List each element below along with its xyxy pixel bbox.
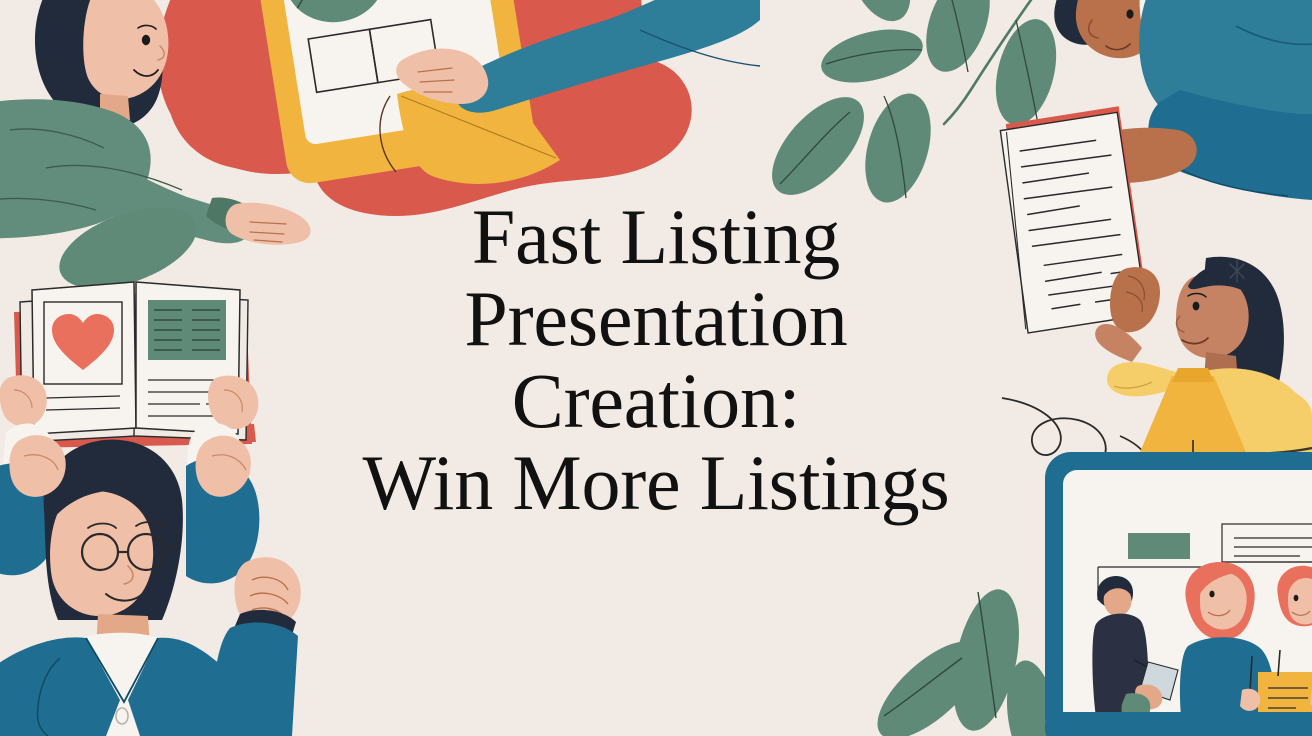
bottom-right-leaves [862, 583, 1063, 736]
presentation-slide: Fast Listing Presentation Creation: Win … [0, 0, 1312, 736]
top-center-tablet-illustration [158, 0, 760, 216]
top-right-leaf-branch [756, 0, 1067, 211]
title-line-2: Presentation [362, 278, 949, 360]
slide-title-block: Fast Listing Presentation Creation: Win … [0, 196, 1312, 524]
title-line-1: Fast Listing [362, 196, 949, 278]
title-line-4: Win More Listings [362, 442, 949, 524]
page-title: Fast Listing Presentation Creation: Win … [362, 196, 949, 524]
title-line-3: Creation: [362, 360, 949, 442]
